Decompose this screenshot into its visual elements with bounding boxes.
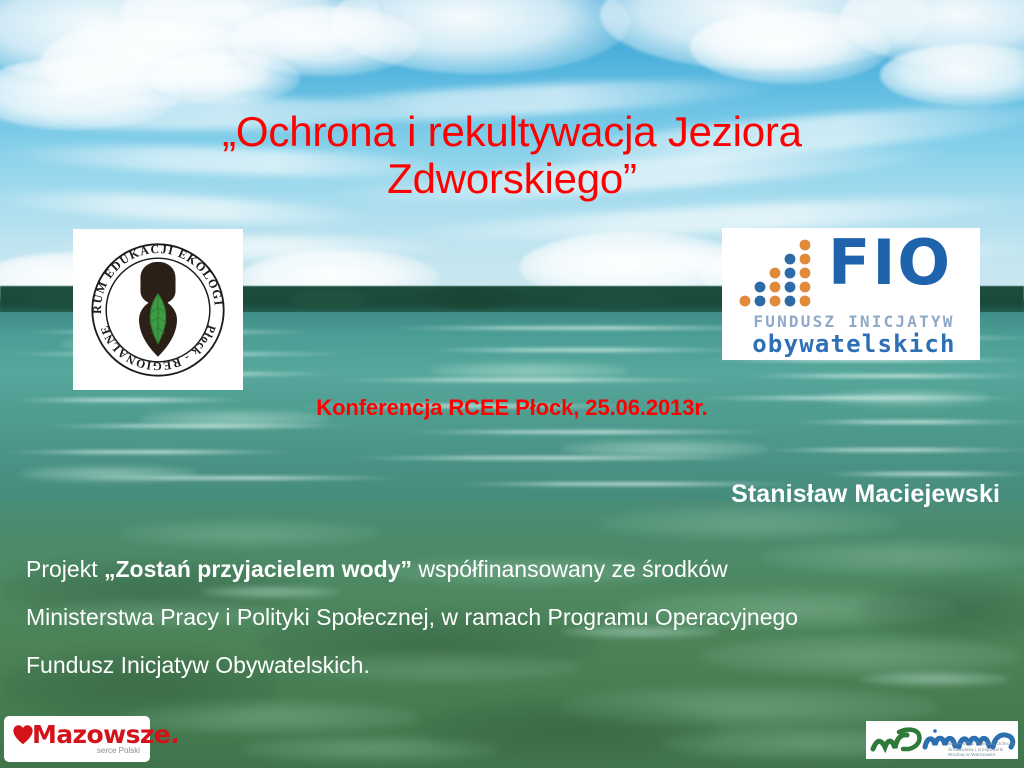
funding-line-1-post: współfinansowany ze środków	[412, 556, 728, 582]
funding-line-2: Ministerstwa Pracy i Polityki Społecznej…	[26, 593, 986, 641]
fio-dotmatrix-icon	[738, 237, 820, 309]
presenter-name: Stanisław Maciejewski	[0, 480, 1000, 509]
slide-title: „Ochrona i rekultywacja Jeziora Zdworski…	[0, 108, 1024, 202]
heart-icon	[12, 724, 34, 746]
funding-line-1: Projekt „Zostań przyjacielem wody” współ…	[26, 545, 986, 593]
wfosigw-caption-line1: Wojewódzki Fundusz Ochrony	[948, 741, 1015, 746]
presentation-slide: „Ochrona i rekultywacja Jeziora Zdworski…	[0, 0, 1024, 768]
wfosigw-logo: Wojewódzki Fundusz Ochrony Środowiska i …	[866, 721, 1018, 759]
mazowsze-tagline: serce Polski	[97, 746, 140, 755]
mazowsze-wordmark: Mazowsze.	[32, 722, 179, 747]
wfosigw-caption-line2: Środowiska i Gospodarki Wodnej w Warszaw…	[948, 747, 1018, 757]
fio-line2: obywatelskich	[736, 330, 972, 358]
project-name: „Zostań przyjacielem wody”	[104, 556, 412, 582]
funding-statement: Projekt „Zostań przyjacielem wody” współ…	[26, 545, 986, 689]
fio-logo: FIO FUNDUSZ INICJATYW obywatelskich	[722, 228, 980, 360]
funding-line-3: Fundusz Inicjatyw Obywatelskich.	[26, 641, 986, 689]
fio-acronym: FIO	[828, 232, 952, 294]
rcee-seal-icon: CENTRUM EDUKACJI EKOLOGICZNEJ Płock - RE…	[85, 237, 231, 383]
conference-subtitle: Konferencja RCEE Płock, 25.06.2013r.	[0, 395, 1024, 421]
funding-line-1-pre: Projekt	[26, 556, 104, 582]
fio-line1: FUNDUSZ INICJATYW	[736, 312, 972, 331]
mazowsze-logo: Mazowsze. serce Polski	[4, 716, 150, 762]
rcee-logo: CENTRUM EDUKACJI EKOLOGICZNEJ Płock - RE…	[73, 229, 243, 390]
